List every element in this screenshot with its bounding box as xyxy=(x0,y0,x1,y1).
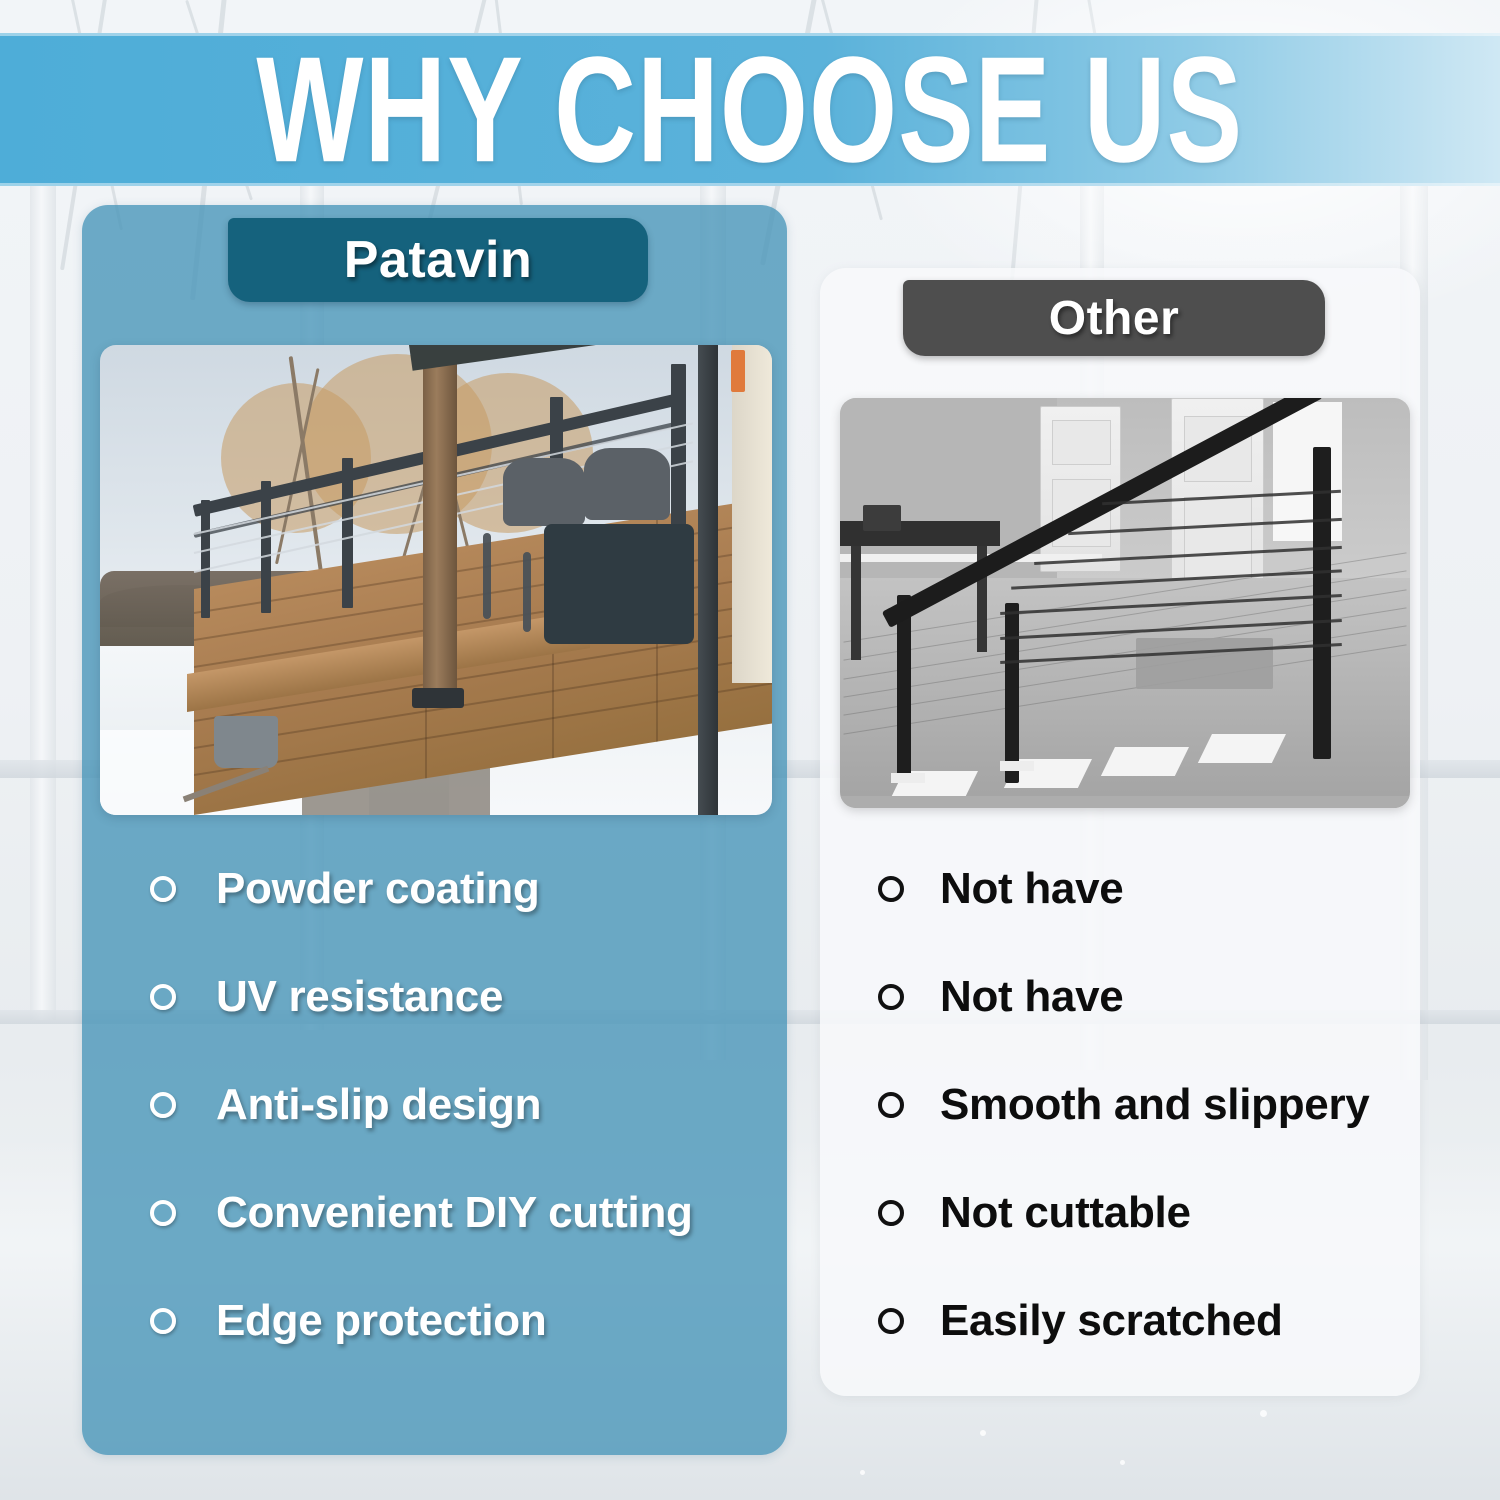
list-item-label: Easily scratched xyxy=(940,1296,1283,1346)
background-snow-speck xyxy=(1260,1410,1267,1417)
list-item: UV resistance xyxy=(150,943,770,1051)
infographic-root: WHY CHOOSE US xyxy=(0,0,1500,1500)
other-product-photo xyxy=(840,398,1410,808)
background-snow-speck xyxy=(860,1470,865,1475)
list-item: Not have xyxy=(878,943,1418,1051)
brand-pill-other: Other xyxy=(903,280,1325,356)
list-item: Smooth and slippery xyxy=(878,1051,1418,1159)
brand-pill-other-label: Other xyxy=(1049,291,1180,346)
background-railing-post xyxy=(30,120,56,1020)
list-item-label: UV resistance xyxy=(216,972,503,1022)
circle-outline-icon xyxy=(150,1092,176,1118)
list-item: Convenient DIY cutting xyxy=(150,1159,770,1267)
patavin-feature-list: Powder coating UV resistance Anti-slip d… xyxy=(150,835,770,1375)
list-item: Not cuttable xyxy=(878,1159,1418,1267)
list-item-label: Not cuttable xyxy=(940,1188,1191,1238)
circle-outline-icon xyxy=(150,876,176,902)
circle-outline-icon xyxy=(878,1092,904,1118)
brand-pill-patavin-label: Patavin xyxy=(344,230,532,290)
list-item-label: Not have xyxy=(940,972,1123,1022)
list-item-label: Smooth and slippery xyxy=(940,1080,1369,1130)
list-item-label: Anti-slip design xyxy=(216,1080,541,1130)
brand-pill-patavin: Patavin xyxy=(228,218,648,302)
circle-outline-icon xyxy=(878,876,904,902)
patavin-product-photo xyxy=(100,345,772,815)
list-item: Easily scratched xyxy=(878,1267,1418,1375)
other-feature-list: Not have Not have Smooth and slippery No… xyxy=(878,835,1418,1375)
list-item: Not have xyxy=(878,835,1418,943)
list-item-label: Not have xyxy=(940,864,1123,914)
header-banner: WHY CHOOSE US xyxy=(0,33,1500,186)
circle-outline-icon xyxy=(150,984,176,1010)
list-item: Powder coating xyxy=(150,835,770,943)
circle-outline-icon xyxy=(150,1308,176,1334)
list-item: Anti-slip design xyxy=(150,1051,770,1159)
circle-outline-icon xyxy=(150,1200,176,1226)
list-item-label: Powder coating xyxy=(216,864,539,914)
background-snow-speck xyxy=(980,1430,986,1436)
list-item: Edge protection xyxy=(150,1267,770,1375)
background-snow-speck xyxy=(1120,1460,1125,1465)
circle-outline-icon xyxy=(878,984,904,1010)
circle-outline-icon xyxy=(878,1308,904,1334)
circle-outline-icon xyxy=(878,1200,904,1226)
list-item-label: Convenient DIY cutting xyxy=(216,1188,693,1238)
list-item-label: Edge protection xyxy=(216,1296,546,1346)
page-title: WHY CHOOSE US xyxy=(257,34,1244,184)
